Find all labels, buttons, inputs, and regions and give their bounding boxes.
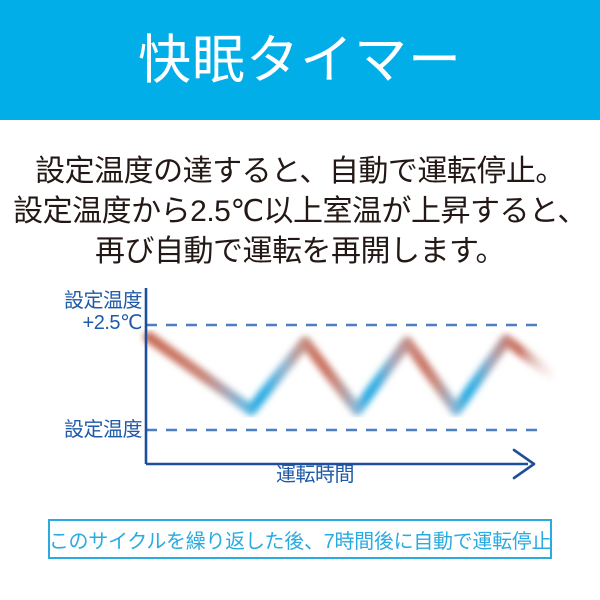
y-axis-label-upper: 設定温度 +2.5℃ (0, 290, 142, 335)
y-axis-label-lower-line-1: 設定温度 (0, 419, 142, 441)
callout-text: このサイクルを繰り返した後、7時間後に自動で運転停止 (49, 525, 551, 554)
description-line-1: 設定温度の達すると、自動で運転停止。 (0, 152, 600, 192)
temperature-cycle-chart: 設定温度 +2.5℃ 設定温度 運転時間 (0, 282, 600, 497)
x-axis-label: 運転時間 (150, 458, 480, 487)
y-axis-label-lower: 設定温度 (0, 419, 142, 441)
description-line-3: 再び自動で運転を再開します。 (0, 232, 600, 272)
y-axis-label-upper-line-2: +2.5℃ (0, 312, 142, 334)
page-title: 快眠タイマー (138, 34, 462, 87)
description-paragraph: 設定温度の達すると、自動で運転停止。 設定温度から2.5℃以上室温が上昇すると、… (0, 152, 600, 272)
callout-box: このサイクルを繰り返した後、7時間後に自動で運転停止 (48, 519, 552, 559)
description-line-2: 設定温度から2.5℃以上室温が上昇すると、 (0, 192, 600, 232)
header-banner: 快眠タイマー (0, 0, 600, 120)
y-axis-label-upper-line-1: 設定温度 (0, 290, 142, 312)
temperature-waveform (149, 337, 552, 410)
